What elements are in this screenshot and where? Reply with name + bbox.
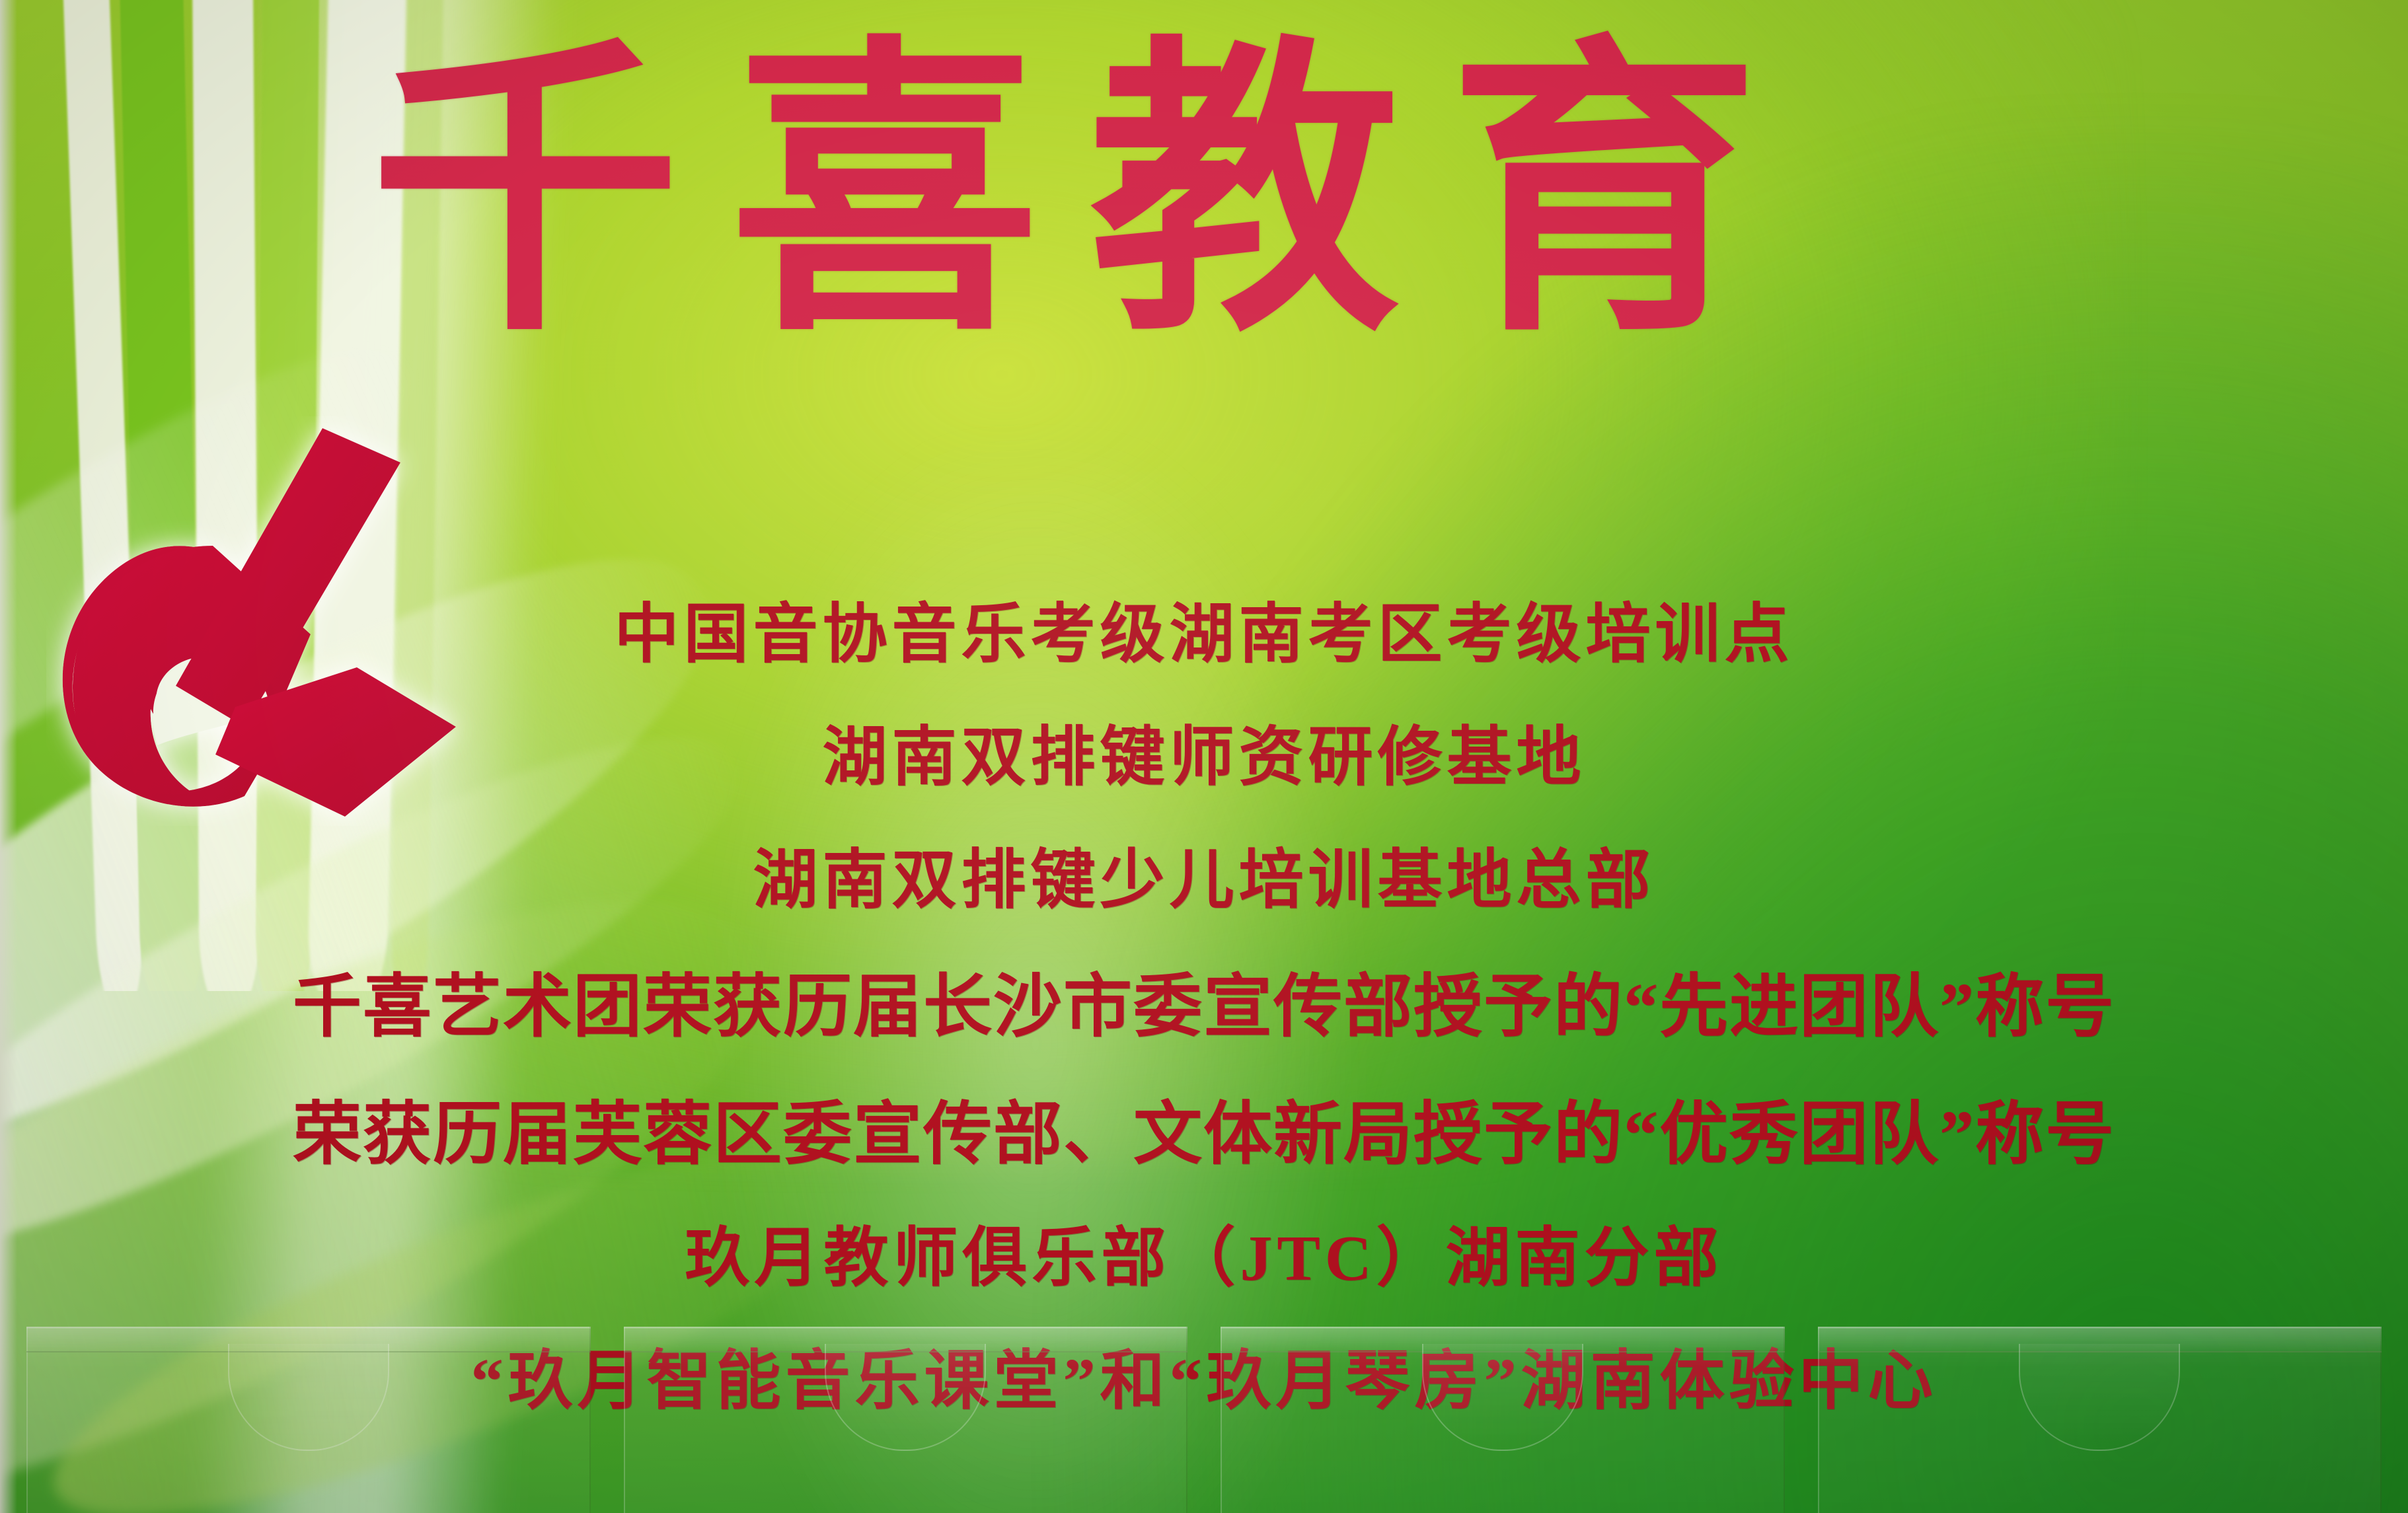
pocket-thumb-notch (2019, 1344, 2180, 1451)
pocket-thumb-notch (825, 1344, 986, 1451)
wall-sign-panel: 千 喜 教 育 中国音协音乐考级湖南考区考级培训点 湖南双排键师资研修基地 湖南… (0, 0, 2408, 1513)
credential-line: 湖南双排键少儿培训基地总部 (0, 827, 2408, 921)
brochure-pocket[interactable] (624, 1327, 1188, 1513)
brochure-pocket[interactable] (1818, 1327, 2382, 1513)
pocket-thumb-notch (1422, 1344, 1583, 1451)
credential-line: 玖月教师俱乐部（JTC）湖南分部 (0, 1205, 2408, 1299)
pocket-thumb-notch (228, 1344, 389, 1451)
brand-title-char-2: 喜 (730, 48, 1040, 343)
brand-title-char-4: 育 (1449, 48, 1759, 343)
brochure-pocket[interactable] (1221, 1327, 1785, 1513)
brochure-pocket[interactable] (26, 1327, 591, 1513)
brand-title-char-3: 教 (1089, 48, 1400, 343)
credential-line: 千喜艺术团荣获历届长沙市委宣传部授予的“先进团队”称号 (0, 950, 2408, 1050)
credential-line: 中国音协音乐考级湖南考区考级培训点 (0, 581, 2408, 675)
credential-line: 湖南双排键师资研修基地 (0, 704, 2408, 798)
brochure-pocket-row (0, 1308, 2408, 1513)
brand-title-char-1: 千 (370, 48, 681, 343)
credential-line: 荣获历届芙蓉区委宣传部、文体新局授予的“优秀团队”称号 (0, 1078, 2408, 1177)
brand-title: 千 喜 教 育 (370, 48, 2088, 343)
